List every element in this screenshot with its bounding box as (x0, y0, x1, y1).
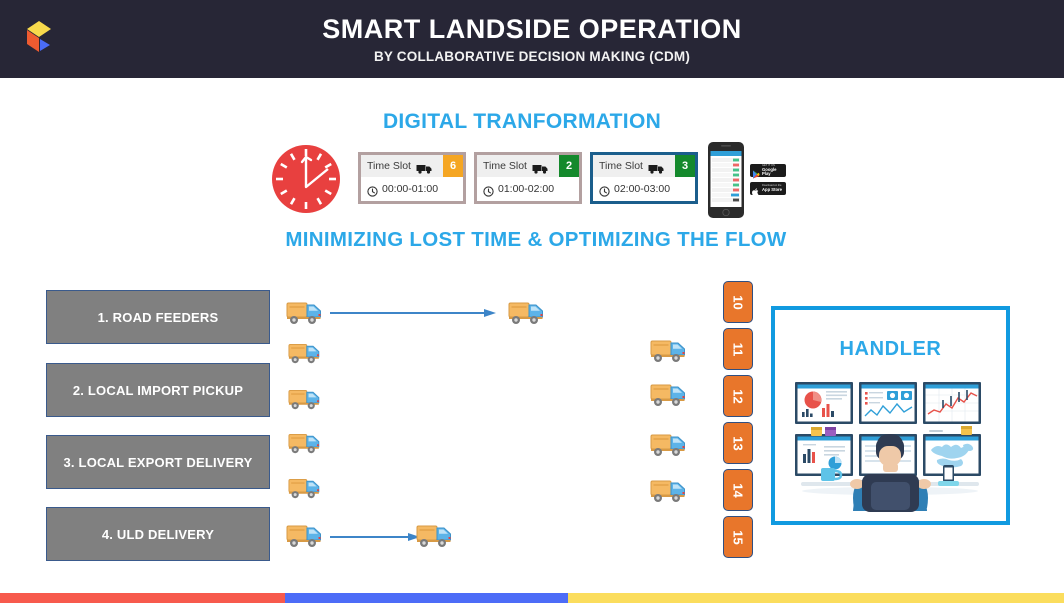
google-play-badge-big: Google Play (762, 168, 784, 176)
truck-icon (288, 475, 322, 500)
digital-transformation-heading: DIGITAL TRANFORMATION (0, 110, 1044, 134)
time-slot-label: Time Slot (367, 160, 411, 172)
truck-icon (650, 336, 688, 364)
smartphone-app-icon (708, 142, 744, 218)
clock-icon (599, 184, 610, 195)
app-store-badge-text: Download on the App Store (762, 185, 782, 192)
minimizing-lost-time-heading: MINIMIZING LOST TIME & OPTIMIZING THE FL… (0, 228, 1064, 252)
queue-slot-number: 13 (731, 436, 746, 450)
time-slot-card-body: 01:00-02:00 (477, 177, 579, 201)
truck-icon (532, 161, 549, 171)
queue-slot-number: 10 (731, 295, 746, 309)
queue-slot-number: 14 (731, 483, 746, 497)
truck-icon (286, 521, 324, 549)
handler-title: HANDLER (775, 338, 1006, 361)
bottom-bar-segment-blue (285, 593, 568, 603)
time-slot-card-body: 00:00-01:00 (361, 177, 463, 201)
time-slot-card[interactable]: Time Slot 2 (474, 152, 582, 204)
category-label: 2. LOCAL IMPORT PICKUP (73, 383, 243, 398)
header-text-block: SMART LANDSIDE OPERATION BY COLLABORATIV… (0, 0, 1064, 78)
bottom-color-bar (0, 593, 1064, 603)
truck-icon (288, 340, 322, 365)
queue-slot-box[interactable]: 11 (723, 328, 753, 370)
category-label: 4. ULD DELIVERY (102, 527, 214, 542)
time-slot-card-header: Time Slot 3 (593, 155, 695, 177)
truck-icon (416, 161, 433, 171)
time-slot-card-header: Time Slot 6 (361, 155, 463, 177)
truck-icon (650, 430, 688, 458)
time-slot-count-badge: 2 (559, 155, 579, 177)
queue-slot-box[interactable]: 15 (723, 516, 753, 558)
mobile-app-group: GET IT ON Google Play Download on the Ap… (708, 142, 794, 218)
truck-icon (286, 298, 324, 326)
queue-slot-number: 11 (731, 342, 746, 356)
queue-slot-number: 12 (731, 389, 746, 403)
time-slot-card[interactable]: Time Slot 6 (358, 152, 466, 204)
queue-slot-box[interactable]: 10 (723, 281, 753, 323)
arrow-right-icon (330, 529, 420, 539)
bottom-bar-segment-yellow (568, 593, 1064, 603)
queue-slot-number: 15 (731, 530, 746, 544)
control-room-operator-icon (791, 368, 990, 513)
time-slot-count-badge: 6 (443, 155, 463, 177)
time-slot-card-selected[interactable]: Time Slot 3 (590, 152, 698, 204)
arrow-right-icon (330, 305, 496, 315)
red-clock-icon (270, 143, 342, 215)
time-slot-count-badge: 3 (675, 155, 695, 177)
category-label: 3. LOCAL EXPORT DELIVERY (64, 455, 253, 470)
category-box-road-feeders[interactable]: 1. ROAD FEEDERS (46, 290, 270, 344)
time-slot-card-header: Time Slot 2 (477, 155, 579, 177)
time-slot-label: Time Slot (599, 160, 643, 172)
truck-icon (508, 298, 546, 326)
truck-icon (650, 380, 688, 408)
truck-icon (288, 386, 322, 411)
truck-icon (650, 476, 688, 504)
queue-slot-box[interactable]: 13 (723, 422, 753, 464)
time-slot-time-range: 02:00-03:00 (614, 183, 670, 195)
handler-panel: HANDLER (771, 306, 1010, 525)
time-slot-card-body: 02:00-03:00 (593, 177, 695, 201)
time-slot-time-range: 01:00-02:00 (498, 183, 554, 195)
infographic-page: SMART LANDSIDE OPERATION BY COLLABORATIV… (0, 0, 1064, 603)
truck-icon (288, 430, 322, 455)
truck-icon (648, 161, 665, 171)
page-title: SMART LANDSIDE OPERATION (322, 13, 742, 45)
time-slot-label: Time Slot (483, 160, 527, 172)
app-store-badge-list: GET IT ON Google Play Download on the Ap… (750, 164, 786, 195)
time-slot-card-row: Time Slot 6 (358, 152, 698, 204)
category-box-local-import-pickup[interactable]: 2. LOCAL IMPORT PICKUP (46, 363, 270, 417)
google-play-badge-text: GET IT ON Google Play (762, 165, 784, 176)
queue-slot-box[interactable]: 12 (723, 375, 753, 417)
category-label: 1. ROAD FEEDERS (98, 310, 219, 325)
time-slot-time-range: 00:00-01:00 (382, 183, 438, 195)
clock-icon (483, 184, 494, 195)
app-store-badge[interactable]: Download on the App Store (750, 182, 786, 195)
bottom-bar-segment-red (0, 593, 285, 603)
app-store-badge-big: App Store (762, 188, 782, 192)
clock-icon (367, 184, 378, 195)
category-box-uld-delivery[interactable]: 4. ULD DELIVERY (46, 507, 270, 561)
apple-icon (752, 184, 760, 193)
google-play-badge[interactable]: GET IT ON Google Play (750, 164, 786, 177)
page-subtitle: BY COLLABORATIVE DECISION MAKING (CDM) (374, 48, 690, 66)
category-box-local-export-delivery[interactable]: 3. LOCAL EXPORT DELIVERY (46, 435, 270, 489)
page-header: SMART LANDSIDE OPERATION BY COLLABORATIV… (0, 0, 1064, 78)
google-play-icon (752, 166, 760, 175)
truck-icon (416, 521, 454, 549)
queue-slot-box[interactable]: 14 (723, 469, 753, 511)
